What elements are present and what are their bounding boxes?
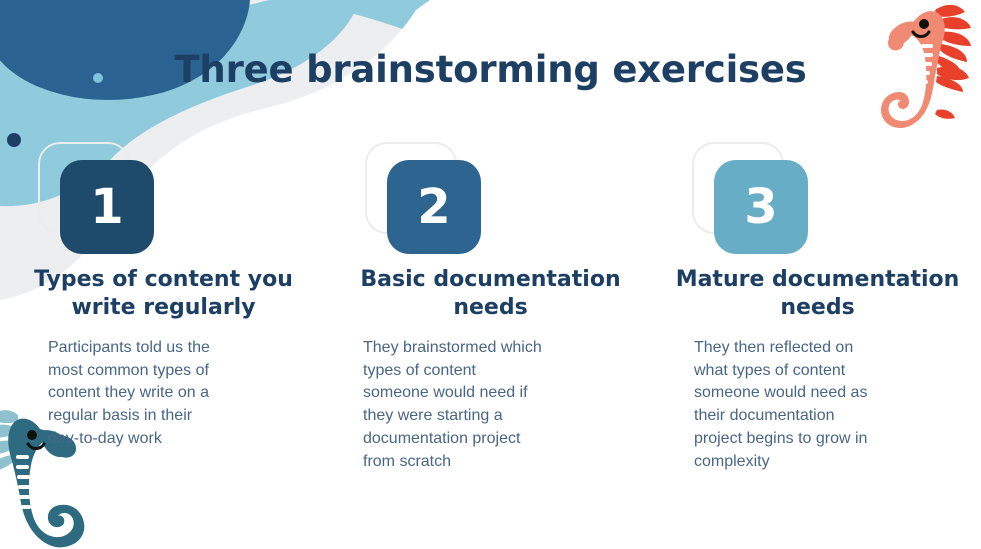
- column-body-2: They brainstormed which types of content…: [341, 337, 640, 473]
- column-2: 2 Basic documentation needs They brainst…: [327, 138, 654, 473]
- column-3: 3 Mature documentation needs They then r…: [654, 138, 981, 473]
- slide-canvas: Three brainstorming exercises 1 Types of…: [0, 0, 981, 549]
- badge-wrap-3: 3: [692, 138, 967, 256]
- column-heading-3: Mature documentation needs: [668, 266, 967, 321]
- column-heading-1: Types of content you write regularly: [14, 266, 313, 321]
- seahorse-snout: [889, 21, 915, 45]
- column-body-3: They then reflected on what types of con…: [668, 337, 967, 473]
- seahorse-eye: [919, 19, 929, 29]
- badge-wrap-2: 2: [365, 138, 640, 256]
- badge-wrap-1: 1: [38, 138, 313, 256]
- step-badge-3: 3: [714, 160, 808, 254]
- step-badge-2: 2: [387, 160, 481, 254]
- column-heading-2: Basic documentation needs: [341, 266, 640, 321]
- columns-container: 1 Types of content you write regularly P…: [0, 138, 981, 473]
- column-1: 1 Types of content you write regularly P…: [0, 138, 327, 451]
- column-body-1: Participants told us the most common typ…: [14, 337, 313, 451]
- slide-title: Three brainstorming exercises: [0, 48, 981, 91]
- seahorse-smile: [913, 32, 929, 37]
- step-badge-1: 1: [60, 160, 154, 254]
